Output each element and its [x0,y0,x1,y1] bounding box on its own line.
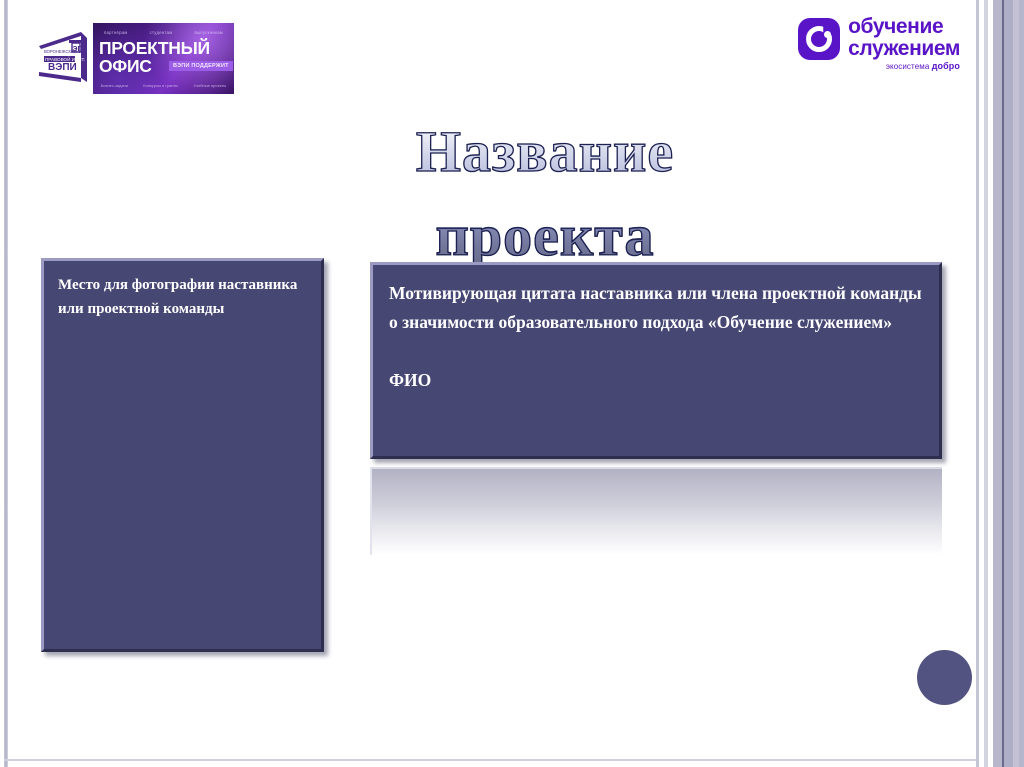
po-tag-graduates: Выпускникам [194,30,223,35]
stripe-7 [1004,0,1013,767]
right-border-stripes [976,0,1024,767]
os-subtitle: экосистема добро [848,62,960,71]
photo-placeholder-text: Место для фотографии наставника или прое… [58,273,307,321]
po-tag-projects: Учебные проекты [193,83,226,88]
mentor-quote-box[interactable]: Мотивирующая цитата наставника или члена… [370,262,942,459]
po-tag-partners: Партнёрам [104,30,128,35]
os-subtitle-prefix: экосистема [886,62,932,71]
project-office-logo: Партнёрам Студентам Выпускникам ПРОЕКТНЫ… [93,23,234,94]
vepi-logo-icon: ЭП ПРАВОВОЙ ИНСТ. ВОРОНЕЖСКИЙ ЭК. ВЭПИ [31,26,93,90]
quote-author-label: ФИО [389,366,923,395]
stripe-5 [993,0,1002,767]
obuchenie-sluzheniem-wordmark: обучение служением экосистема добро [848,16,960,71]
photo-placeholder-box[interactable]: Место для фотографии наставника или прое… [41,258,324,652]
quote-box-reflection [370,467,942,555]
svg-text:ВЭПИ: ВЭПИ [48,62,77,73]
bottom-border-rule [4,759,988,761]
svg-text:ВОРОНЕЖСКИЙ ЭК.: ВОРОНЕЖСКИЙ ЭК. [44,49,85,54]
os-line-2: служением [848,38,960,59]
project-office-bottom-tags: Бизнес-задачи Конкурсы и гранты Учебные … [93,83,234,88]
presentation-slide: ЭП ПРАВОВОЙ ИНСТ. ВОРОНЕЖСКИЙ ЭК. ВЭПИ П… [0,0,1024,767]
os-subtitle-brand: добро [932,61,960,71]
stripe-9 [1019,0,1024,767]
obuchenie-sluzheniem-logo: обучение служением экосистема добро [798,16,960,78]
quote-text: Мотивирующая цитата наставника или члена… [389,279,923,337]
po-line-1: ПРОЕКТНЫЙ [99,39,210,57]
vepi-logo: ЭП ПРАВОВОЙ ИНСТ. ВОРОНЕЖСКИЙ ЭК. ВЭПИ [31,26,93,90]
project-office-top-tags: Партнёрам Студентам Выпускникам [93,30,234,35]
po-badge: ВЭПИ ПОДДЕРЖИТ [169,61,233,71]
po-tag-grants: Конкурсы и гранты [143,83,178,88]
os-line-1: обучение [848,16,960,37]
decorative-circle [917,650,972,705]
page-title: Название проекта [330,110,760,278]
po-tag-students: Студентам [150,30,173,35]
left-border-rule [4,0,8,767]
obuchenie-sluzheniem-mark-icon [798,18,840,60]
svg-text:ПРАВОВОЙ ИНСТ.: ПРАВОВОЙ ИНСТ. [45,55,85,62]
po-tag-business: Бизнес-задачи [101,83,128,88]
